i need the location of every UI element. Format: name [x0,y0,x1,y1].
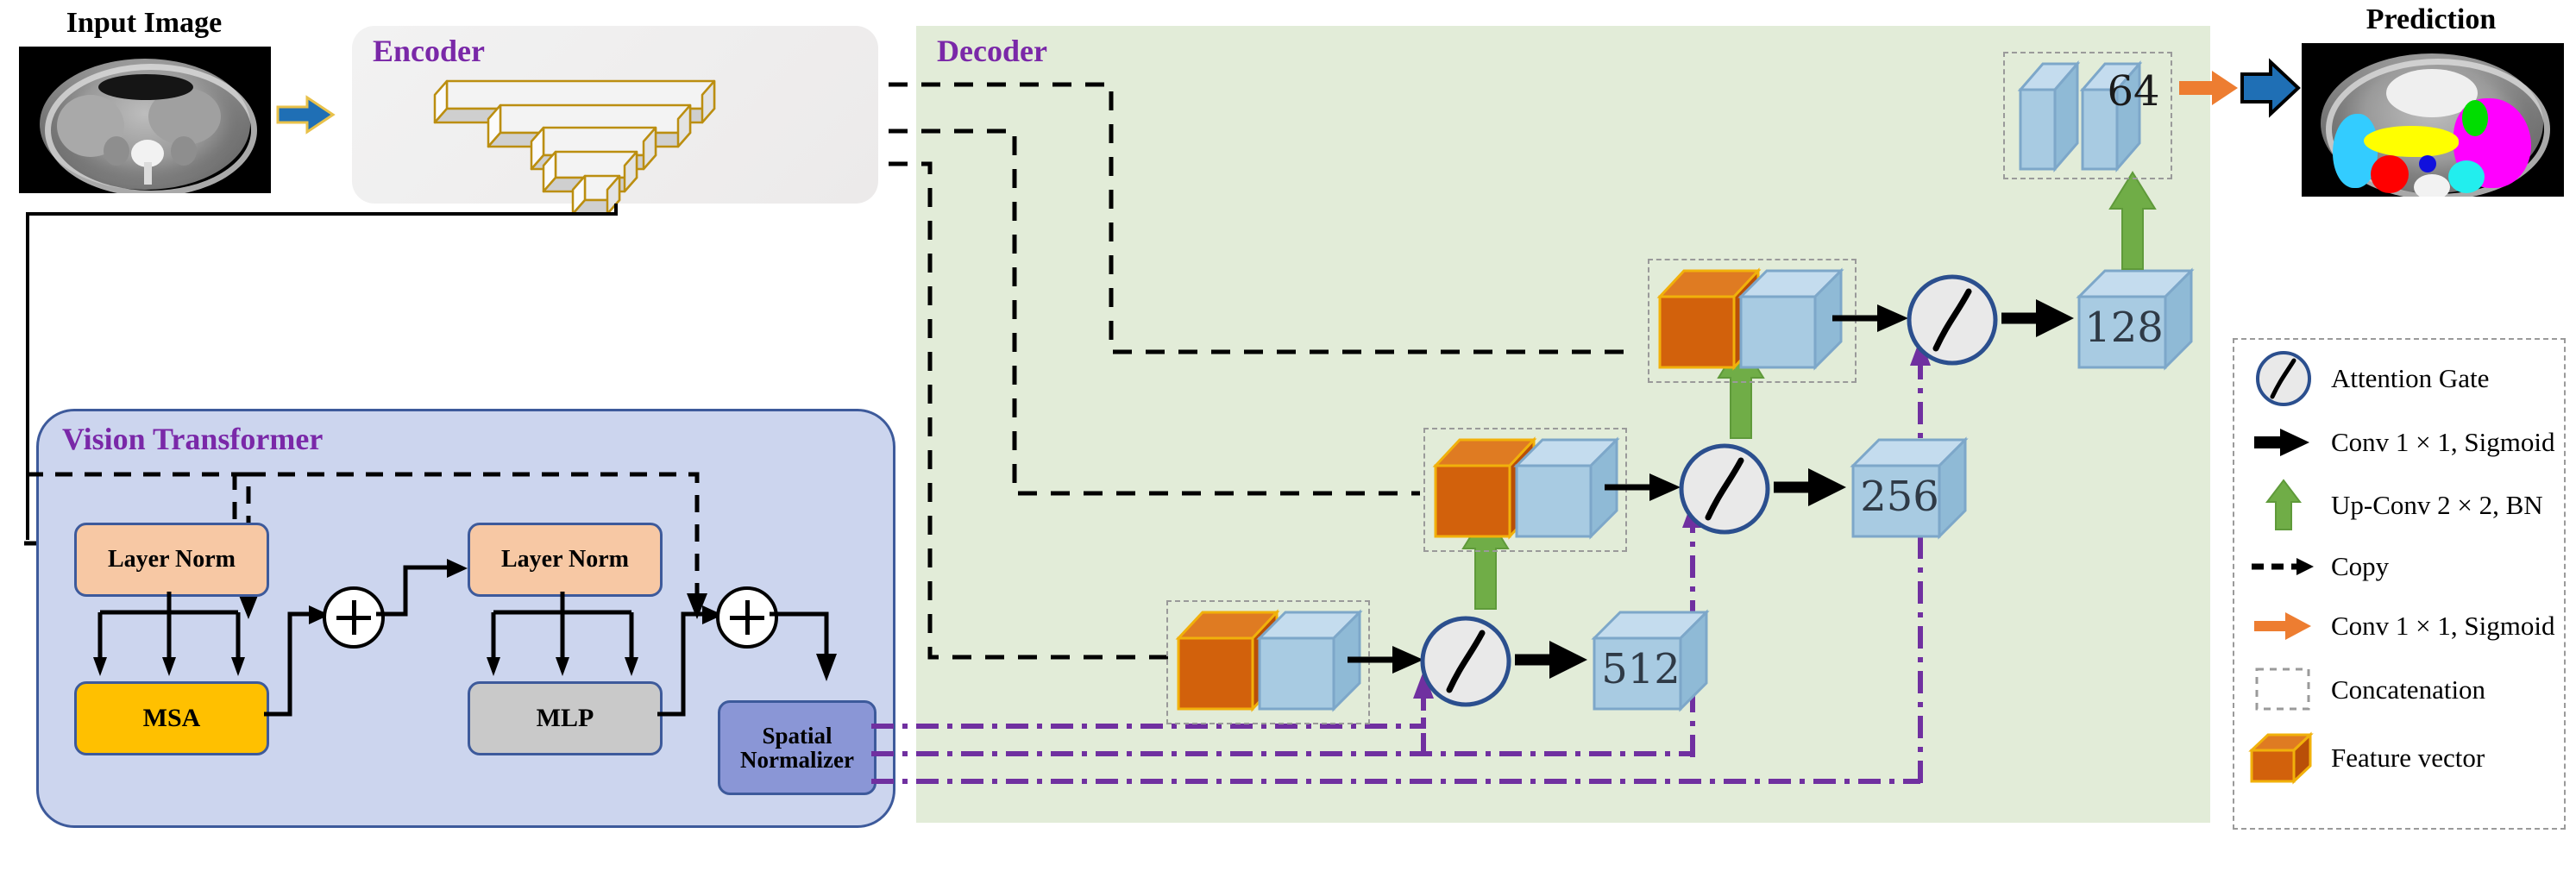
prediction-vertebra [2414,174,2450,197]
input-image [19,47,271,193]
upconv-arrow-128-to-64 [2107,169,2158,273]
segment-kidney-red [2371,155,2409,193]
segment-aorta-blue [2419,155,2436,172]
input-image-caption: Input Image [19,7,269,40]
segment-kidney-cyan [2448,160,2485,193]
conv-arrow-gate-to-512 [1515,636,1593,683]
vit-spatial-normalizer-block: Spatial Normalizer [718,700,876,795]
encoder-to-vit-line-h [26,212,618,216]
attention-gate-512 [1418,614,1513,709]
vit-msa-label: MSA [143,705,201,732]
legend-label-conv-sigmoid-black: Conv 1 × 1, Sigmoid [2331,427,2555,458]
legend-item-concatenation: Concatenation [2236,657,2559,723]
legend-label-attention-gate: Attention Gate [2331,363,2489,394]
vision-transformer-title: Vision Transformer [62,421,323,457]
vit-mlp-label: MLP [537,705,594,732]
vit-msa-block: MSA [74,681,269,755]
legend-label-upconv: Up-Conv 2 × 2, BN [2331,490,2543,521]
prediction-arrow [2240,55,2302,121]
input-to-encoder-arrow [276,93,336,136]
channel-label-128: 128 [2081,304,2167,352]
vit-layer-norm-1-label: Layer Norm [108,547,236,572]
legend-label-concatenation: Concatenation [2331,674,2485,705]
gas-pocket [98,74,193,100]
conv-arrow-256-to-gate [1605,466,1686,509]
legend-item-attention-gate: Attention Gate [2236,345,2559,412]
prediction-caption: Prediction [2302,3,2560,36]
spatialnorm-riser-128 [1908,329,1943,787]
kidney-right [171,136,197,166]
vit-plus2-to-spatialnorm-path [770,604,882,699]
channel-label-512: 512 [1598,645,1684,693]
vit-mlp-block: MLP [468,681,663,755]
channel-label-256: 256 [1857,473,1943,521]
attention-gate-256 [1677,442,1772,536]
output-conv-arrow [2177,66,2241,110]
conv-arrow-128-to-gate [1832,297,1913,340]
decoder-title: Decoder [937,33,1047,69]
conv-arrow-512-to-gate [1348,638,1429,681]
legend-item-upconv: Up-Conv 2 × 2, BN [2236,473,2559,538]
vit-layer-norm-1: Layer Norm [74,523,269,597]
spinous-process [144,162,152,185]
attention-gate-128 [1905,273,2000,367]
legend-label-feature-vector: Feature vector [2331,743,2485,774]
vit-ln2-to-mlp-arrows [468,592,666,683]
segment-gallbladder-green [2462,100,2488,136]
legend-item-copy: Copy [2236,538,2559,595]
vit-ln1-to-msa-arrows [74,592,273,683]
encoder-pyramid [352,41,878,205]
legend-item-conv-sigmoid-black: Conv 1 × 1, Sigmoid [2236,412,2559,473]
vit-layer-norm-2-label: Layer Norm [501,547,629,572]
prediction-image [2302,43,2564,197]
vit-layer-norm-2: Layer Norm [468,523,663,597]
channel-label-64: 64 [2095,67,2172,116]
segment-pancreas-yellow [2364,126,2459,157]
conv-arrow-gate-to-256 [1774,464,1851,511]
kidney-left [104,136,129,166]
legend-item-feature-vector: Feature vector [2236,723,2559,793]
legend-label-copy: Copy [2331,551,2389,582]
vit-plus1-to-ln2-path [376,559,480,636]
vit-spatial-normalizer-label: Spatial Normalizer [740,724,854,773]
legend-label-conv-sigmoid-orange: Conv 1 × 1, Sigmoid [2331,611,2555,642]
spatialnorm-link-to-gate-128 [871,778,1932,890]
legend-item-conv-sigmoid-orange: Conv 1 × 1, Sigmoid [2236,595,2559,657]
conv-arrow-gate-to-128 [2001,295,2079,342]
